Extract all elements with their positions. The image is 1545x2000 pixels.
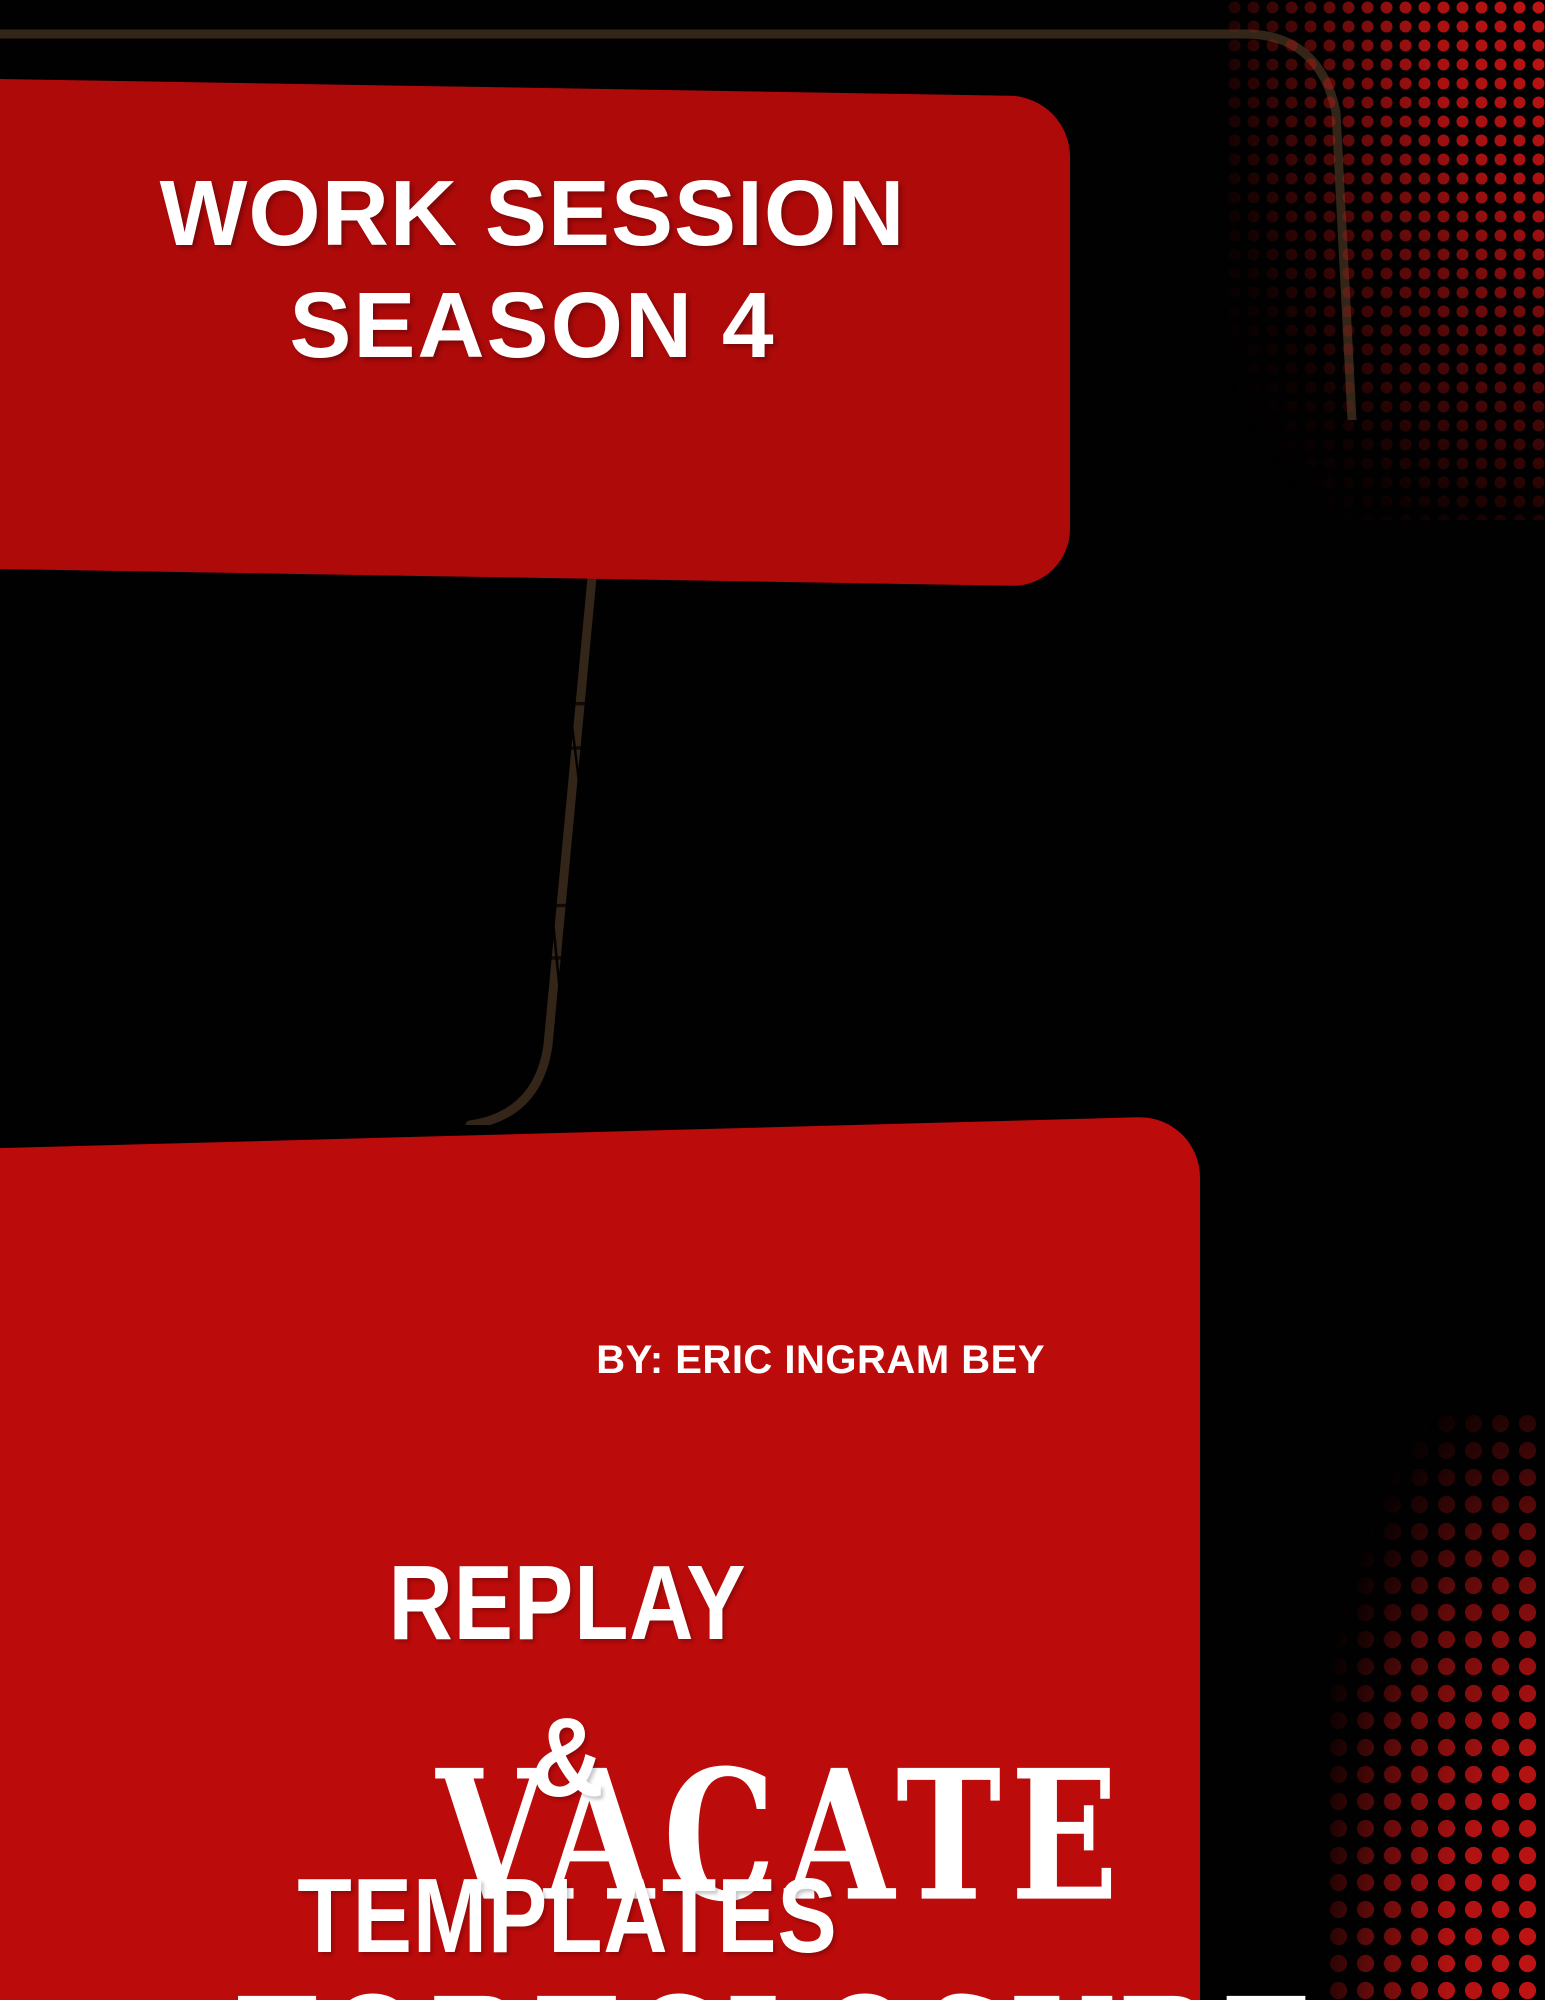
bottom-banner-ampersand: & — [57, 1699, 1079, 1818]
top-banner-line-1: WORK SESSION — [160, 161, 906, 265]
poster-cover: WORK SESSION SEASON 4 VACATE FORECLOSURE — [0, 0, 1545, 2000]
bottom-banner-line-3: TEMPLATES — [91, 1860, 1044, 1972]
headline-word-foreclosure: FORECLOSURE — [162, 1978, 1383, 2000]
top-banner-line-2: SEASON 4 — [289, 273, 775, 377]
top-banner-heading: WORK SESSION SEASON 4 — [0, 158, 1065, 381]
bottom-banner-heading: REPLAY & TEMPLATES — [0, 1547, 1135, 1972]
bottom-banner-line-1: REPLAY — [91, 1547, 1044, 1659]
author-byline: BY: ERIC INGRAM BEY — [0, 1338, 1545, 1383]
